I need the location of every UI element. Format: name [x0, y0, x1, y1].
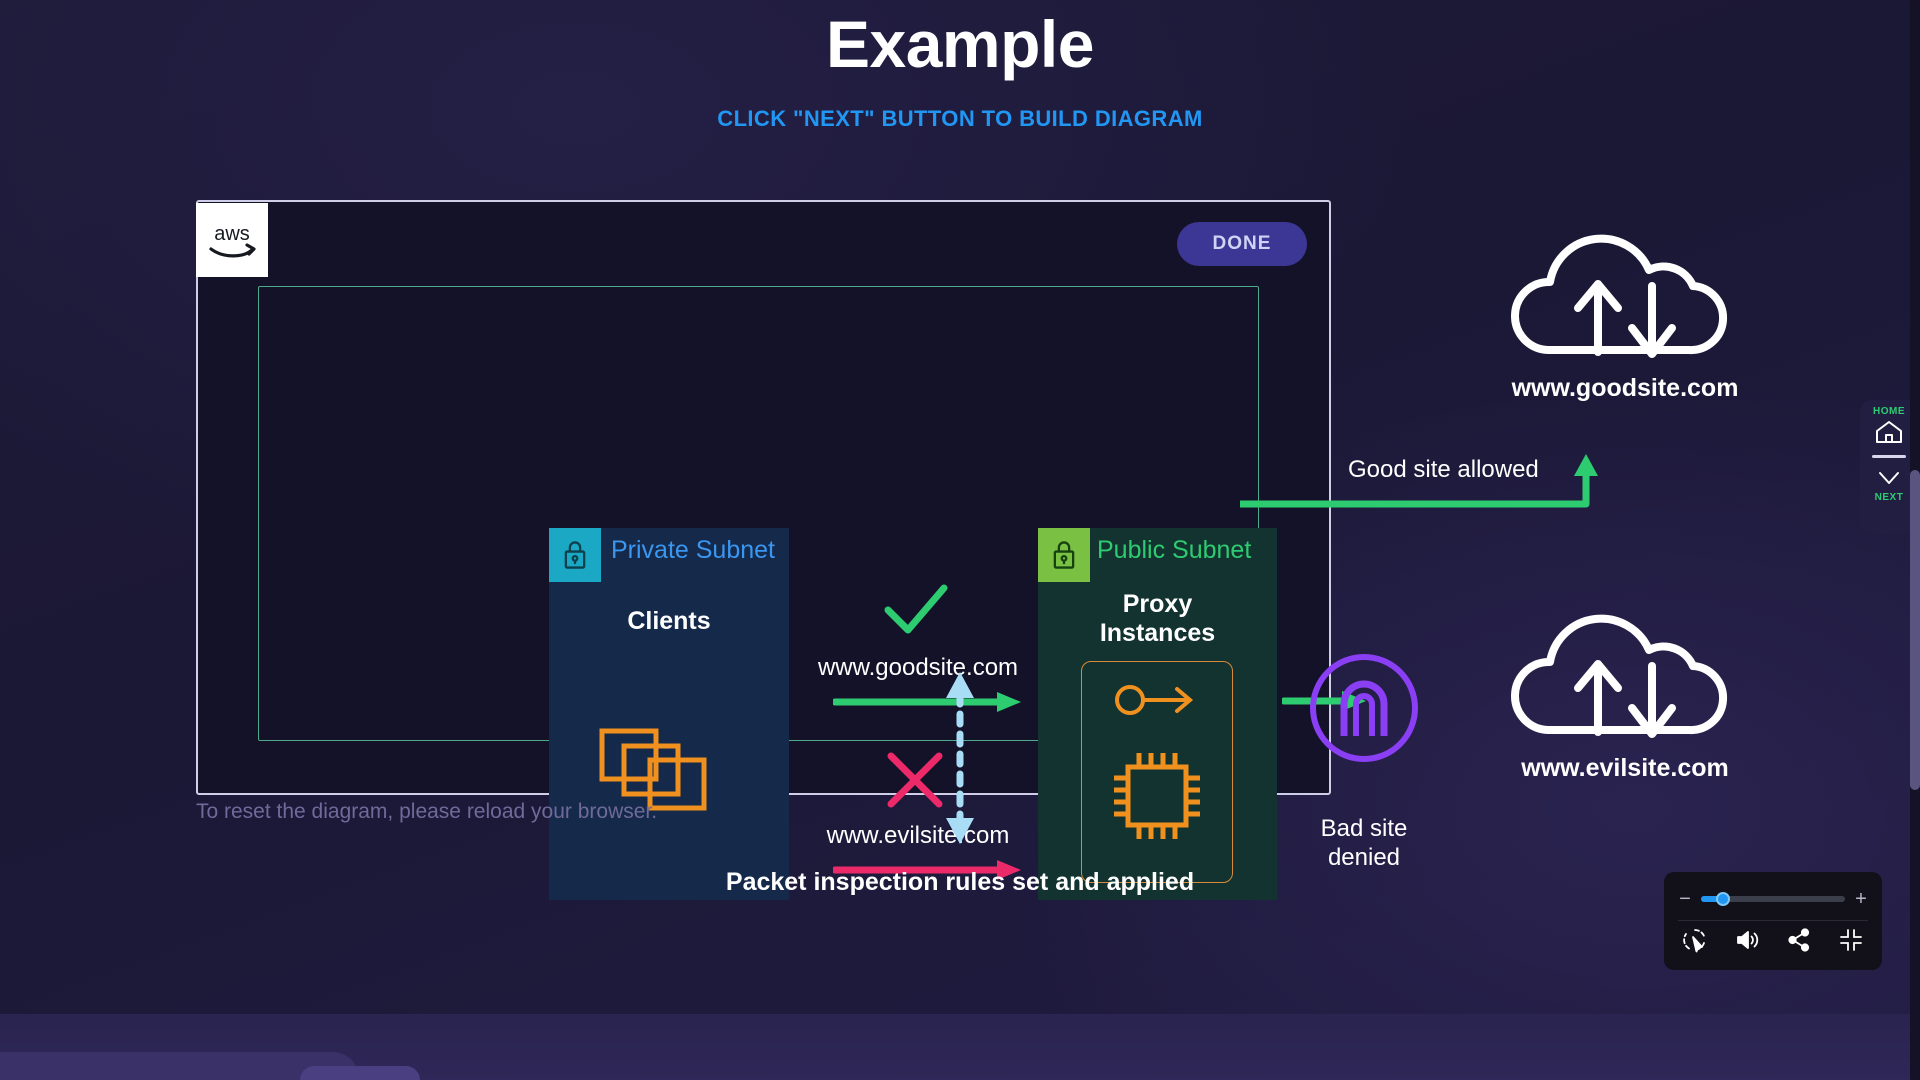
packet-inspection-caption: Packet inspection rules set and applied: [560, 868, 1360, 897]
next-label[interactable]: NEXT: [1875, 492, 1904, 503]
nat-gateway-icon: [1308, 652, 1420, 764]
zoom-in-button[interactable]: +: [1854, 889, 1868, 909]
cpu-chip-icon: [1106, 742, 1208, 850]
zoom-control-row: − +: [1678, 882, 1868, 916]
zoom-slider-track[interactable]: [1701, 896, 1845, 902]
denied-line1: Bad site: [1288, 815, 1440, 844]
bottom-decorative-band: [0, 1014, 1920, 1080]
proxy-label-line1: Proxy: [1038, 590, 1277, 619]
bottom-toolbar: − +: [1664, 872, 1882, 970]
diagram-frame: DONE Private Subnet Clients: [196, 200, 1331, 795]
share-icon[interactable]: [1786, 927, 1812, 953]
private-subnet-lock-icon: [549, 528, 601, 582]
chevron-down-icon[interactable]: [1874, 464, 1904, 490]
gateway-arrow-icon: [1113, 679, 1197, 721]
fullscreen-exit-icon[interactable]: [1838, 927, 1864, 953]
good-flow-arrow: [833, 689, 1023, 715]
volume-icon[interactable]: [1734, 927, 1760, 953]
scrollbar-track[interactable]: [1910, 0, 1920, 1080]
toolbar-icon-row: [1678, 927, 1868, 953]
zoom-slider-thumb[interactable]: [1716, 892, 1730, 906]
evilsite-cloud-label: www.evilsite.com: [1460, 754, 1790, 783]
app-canvas: Example CLICK "NEXT" BUTTON TO BUILD DIA…: [0, 0, 1920, 1080]
home-icon[interactable]: [1874, 419, 1904, 445]
packet-inspection-arrow: [940, 668, 980, 848]
private-subnet-box: [549, 528, 789, 900]
done-button[interactable]: DONE: [1177, 222, 1307, 266]
zoom-out-button[interactable]: −: [1678, 889, 1692, 909]
proxy-label-line2: Instances: [1038, 619, 1277, 648]
reset-note: To reset the diagram, please reload your…: [196, 800, 657, 824]
clients-label: Clients: [549, 607, 789, 636]
home-label: HOME: [1873, 406, 1905, 417]
nav-divider: [1872, 455, 1906, 458]
svg-text:aws: aws: [214, 223, 250, 245]
scrollbar-thumb[interactable]: [1910, 470, 1920, 790]
band-shape-accent: [300, 1066, 420, 1080]
select-cursor-icon[interactable]: [1682, 927, 1708, 953]
evilsite-cloud-group: www.evilsite.com: [1460, 608, 1790, 783]
check-icon: [882, 580, 950, 640]
proxy-instances-label: Proxy Instances: [1038, 590, 1277, 648]
private-subnet-label: Private Subnet: [611, 536, 775, 565]
goodsite-cloud-group: www.goodsite.com: [1460, 228, 1790, 403]
goodsite-cloud-label: www.goodsite.com: [1460, 374, 1790, 403]
page-subtitle: CLICK "NEXT" BUTTON TO BUILD DIAGRAM: [0, 106, 1920, 132]
public-subnet-lock-icon: [1038, 528, 1090, 582]
bad-site-denied-label: Bad site denied: [1288, 815, 1440, 873]
page-title: Example: [0, 6, 1920, 82]
public-subnet-label: Public Subnet: [1097, 536, 1251, 565]
toolbar-divider: [1678, 920, 1868, 921]
good-site-allowed-label: Good site allowed: [1348, 456, 1539, 484]
aws-logo: aws: [196, 203, 268, 277]
goodsite-url-label: www.goodsite.com: [794, 654, 1042, 682]
cross-icon: [884, 750, 946, 810]
evilsite-url-label: www.evilsite.com: [794, 822, 1042, 850]
